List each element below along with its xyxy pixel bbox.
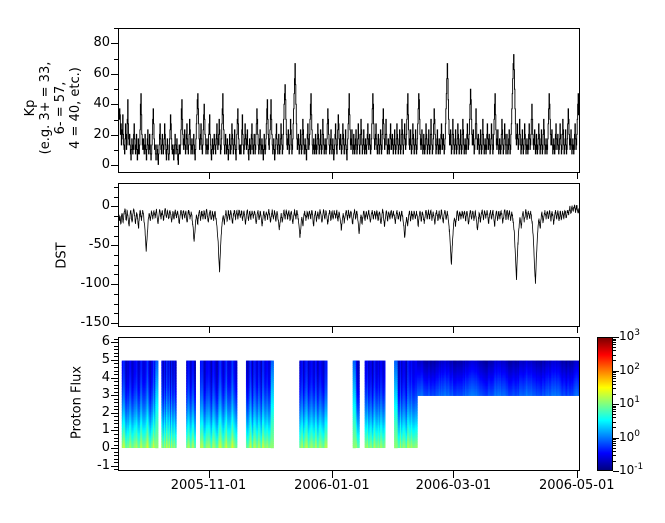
- colorbar-tick-mark: [613, 404, 619, 405]
- proton-flux-y-axis-label: Proton Flux: [70, 348, 85, 458]
- kp-label-line-1: Kp: [23, 33, 38, 183]
- colorbar-tick-minor: [613, 355, 616, 356]
- colorbar-tick-minor: [613, 372, 616, 373]
- pf-ytick-minor: [114, 434, 118, 435]
- kp-y-axis-label: Kp (e.g. 3+ = 33, 6- = 57, 4 = 40, etc.): [23, 33, 83, 183]
- dst-ytick-minor: [114, 304, 118, 305]
- pf-ytick-minor: [114, 378, 118, 379]
- x-tick-mark-minorpanel: [209, 327, 210, 333]
- dst-ytick-minor: [114, 216, 118, 217]
- dst-ytick-minor: [114, 206, 118, 207]
- colorbar-tick-minor: [613, 378, 616, 379]
- pf-ytick-minor: [114, 385, 118, 386]
- kp-ytick-40-mark: [111, 104, 118, 105]
- x-tick-label-2006-05-01: 2006-05-01: [527, 478, 627, 493]
- pf-ytick-minor: [114, 416, 118, 417]
- kp-ytick-minor: [114, 28, 118, 29]
- dst-ytick-minor: [114, 197, 118, 198]
- x-tick-mark-minorpanel: [453, 327, 454, 333]
- heatmap-bright-edge: [353, 361, 356, 449]
- colorbar-tick-minor: [613, 441, 616, 442]
- colorbar-tick-minor: [613, 414, 616, 415]
- heatmap-band: [246, 361, 272, 448]
- dst-y-axis-label: DST: [55, 226, 70, 286]
- colorbar-tick-minor: [613, 409, 616, 410]
- kp-ytick-minor: [114, 89, 118, 90]
- proton-flux-plot-panel: [118, 337, 580, 471]
- dst-ytick-minor: [114, 255, 118, 256]
- kp-plot-panel: [118, 28, 580, 173]
- colorbar-tick-minor: [613, 384, 616, 385]
- pf-ytick-minor: [114, 339, 118, 340]
- colorbar-tick-minor: [613, 347, 616, 348]
- dst-ytick-minor: [114, 323, 118, 324]
- kp-label-line-4: 4 = 40, etc.): [68, 33, 83, 183]
- pf-ytick-minor: [114, 371, 118, 372]
- pf-ytick-minor: [114, 459, 118, 460]
- pf-ytick-minor: [114, 466, 118, 467]
- kp-ytick-20-mark: [111, 135, 118, 136]
- colorbar-tick-minor: [613, 360, 616, 361]
- dst-line: [119, 205, 579, 284]
- pf-ytick-minor: [114, 420, 118, 421]
- x-tick-mark-minorpanel: [209, 173, 210, 179]
- x-tick-label-2005-11-01: 2005-11-01: [159, 478, 259, 493]
- pf-ytick-minor: [114, 441, 118, 442]
- pf-ytick-minor: [114, 445, 118, 446]
- colorbar-tick-1e0: 100: [619, 429, 640, 444]
- dst-ytick-minor: [114, 274, 118, 275]
- colorbar-tick-minor: [613, 406, 616, 407]
- kp-ytick-60-mark: [111, 74, 118, 75]
- pf-ytick--1: -1: [72, 458, 110, 473]
- pf-ytick-minor: [114, 413, 118, 414]
- pf-ytick-minor: [114, 430, 118, 431]
- colorbar-tick-minor: [613, 344, 616, 345]
- colorbar-tick-minor: [613, 350, 616, 351]
- pf-ytick-minor: [114, 402, 118, 403]
- heatmap-band: [417, 361, 579, 396]
- heatmap-band: [161, 361, 176, 448]
- kp-label-line-3: 6- = 57,: [53, 33, 68, 183]
- x-tick-mark-minorpanel: [332, 327, 333, 333]
- pf-ytick-minor: [114, 438, 118, 439]
- dst-ytick--150: -150: [60, 315, 110, 330]
- pf-ytick-minor: [114, 342, 118, 343]
- pf-ytick-minor: [114, 469, 118, 470]
- colorbar-tick-minor: [613, 376, 616, 377]
- pf-ytick-minor: [114, 367, 118, 368]
- colorbar-tick-minor: [613, 342, 616, 343]
- heatmap-bright-edge: [271, 361, 274, 449]
- pf-ytick-minor: [114, 462, 118, 463]
- heatmap-bright-edge: [155, 361, 158, 449]
- colorbar-tick-1e3: 103: [619, 328, 640, 343]
- colorbar-tick-minor: [613, 451, 616, 452]
- figure-root: 020406080 Kp (e.g. 3+ = 33, 6- = 57, 4 =…: [0, 0, 665, 523]
- heatmap-band: [122, 361, 158, 448]
- kp-label-line-2: (e.g. 3+ = 33,: [38, 33, 53, 183]
- colorbar-tick-minor: [613, 417, 616, 418]
- pf-ytick-minor: [114, 388, 118, 389]
- pf-ytick-minor: [114, 395, 118, 396]
- kp-ytick-minor: [114, 150, 118, 151]
- colorbar-tick-minor: [613, 443, 616, 444]
- dst-ytick-minor: [114, 187, 118, 188]
- heatmap-band: [395, 361, 418, 448]
- kp-series-canvas: [119, 29, 579, 172]
- pf-ytick-minor: [114, 363, 118, 364]
- pf-ytick-minor: [114, 392, 118, 393]
- x-tick-mark-minorpanel: [577, 173, 578, 179]
- colorbar-tick-1e-1: 10-1: [619, 462, 643, 477]
- colorbar-tick-minor: [613, 427, 616, 428]
- heatmap-band: [186, 361, 196, 448]
- dst-series-canvas: [119, 184, 579, 326]
- colorbar-tick-minor: [613, 374, 616, 375]
- x-tick-mark: [332, 471, 333, 478]
- pf-ytick-minor: [114, 455, 118, 456]
- pf-ytick-minor: [114, 381, 118, 382]
- colorbar-tick-minor: [613, 439, 616, 440]
- colorbar: [597, 337, 613, 471]
- colorbar-tick-mark: [613, 337, 619, 338]
- colorbar-tick-minor: [613, 455, 616, 456]
- colorbar-tick-minor: [613, 407, 616, 408]
- dst-ytick-0: 0: [60, 198, 110, 213]
- colorbar-gradient: [598, 338, 612, 470]
- pf-ytick-minor: [114, 349, 118, 350]
- pf-ytick-minor: [114, 360, 118, 361]
- x-tick-mark-minorpanel: [453, 173, 454, 179]
- x-tick-mark-minorpanel: [577, 327, 578, 333]
- heatmap-band: [365, 361, 386, 448]
- pf-ytick-minor: [114, 448, 118, 449]
- colorbar-tick-minor: [613, 448, 616, 449]
- colorbar-tick-minor: [613, 445, 616, 446]
- heatmap-band: [200, 361, 237, 448]
- dst-ytick-minor: [114, 226, 118, 227]
- kp-ytick-minor: [114, 59, 118, 60]
- kp-ytick-80-mark: [111, 43, 118, 44]
- pf-ytick-minor: [114, 423, 118, 424]
- dst-ytick-minor: [114, 236, 118, 237]
- pf-ytick-minor: [114, 409, 118, 410]
- kp-ytick-0-mark: [111, 165, 118, 166]
- dst-ytick-minor: [114, 245, 118, 246]
- kp-ytick-minor: [114, 120, 118, 121]
- colorbar-tick-minor: [613, 339, 616, 340]
- colorbar-tick-mark: [613, 471, 619, 472]
- colorbar-tick-1e1: 101: [619, 395, 640, 410]
- pf-ytick-minor: [114, 374, 118, 375]
- pf-ytick-minor: [114, 399, 118, 400]
- pf-ytick-minor: [114, 427, 118, 428]
- dst-ytick-minor: [114, 284, 118, 285]
- x-tick-mark: [453, 471, 454, 478]
- colorbar-tick-minor: [613, 388, 616, 389]
- colorbar-tick-1e2: 102: [619, 362, 640, 377]
- colorbar-tick-minor: [613, 411, 616, 412]
- pf-ytick-minor: [114, 356, 118, 357]
- colorbar-tick-minor: [613, 381, 616, 382]
- colorbar-tick-minor: [613, 461, 616, 462]
- pf-ytick-minor: [114, 346, 118, 347]
- colorbar-tick-minor: [613, 422, 616, 423]
- dst-plot-panel: [118, 183, 580, 327]
- colorbar-tick-minor: [613, 340, 616, 341]
- x-tick-mark-minorpanel: [332, 173, 333, 179]
- pf-ytick-minor: [114, 452, 118, 453]
- kp-line: [119, 55, 579, 165]
- dst-ytick-minor: [114, 313, 118, 314]
- x-tick-mark: [209, 471, 210, 478]
- colorbar-tick-minor: [613, 394, 616, 395]
- pf-ytick-minor: [114, 406, 118, 407]
- x-tick-mark: [577, 471, 578, 478]
- proton-flux-heatmap-canvas: [119, 338, 579, 470]
- heatmap-band: [299, 361, 327, 448]
- dst-ytick-minor: [114, 265, 118, 266]
- dst-ytick-minor: [114, 294, 118, 295]
- x-tick-label-2006-01-01: 2006-01-01: [282, 478, 382, 493]
- pf-ytick-minor: [114, 353, 118, 354]
- x-tick-label-2006-03-01: 2006-03-01: [403, 478, 503, 493]
- heatmap-bright-edge: [394, 361, 398, 449]
